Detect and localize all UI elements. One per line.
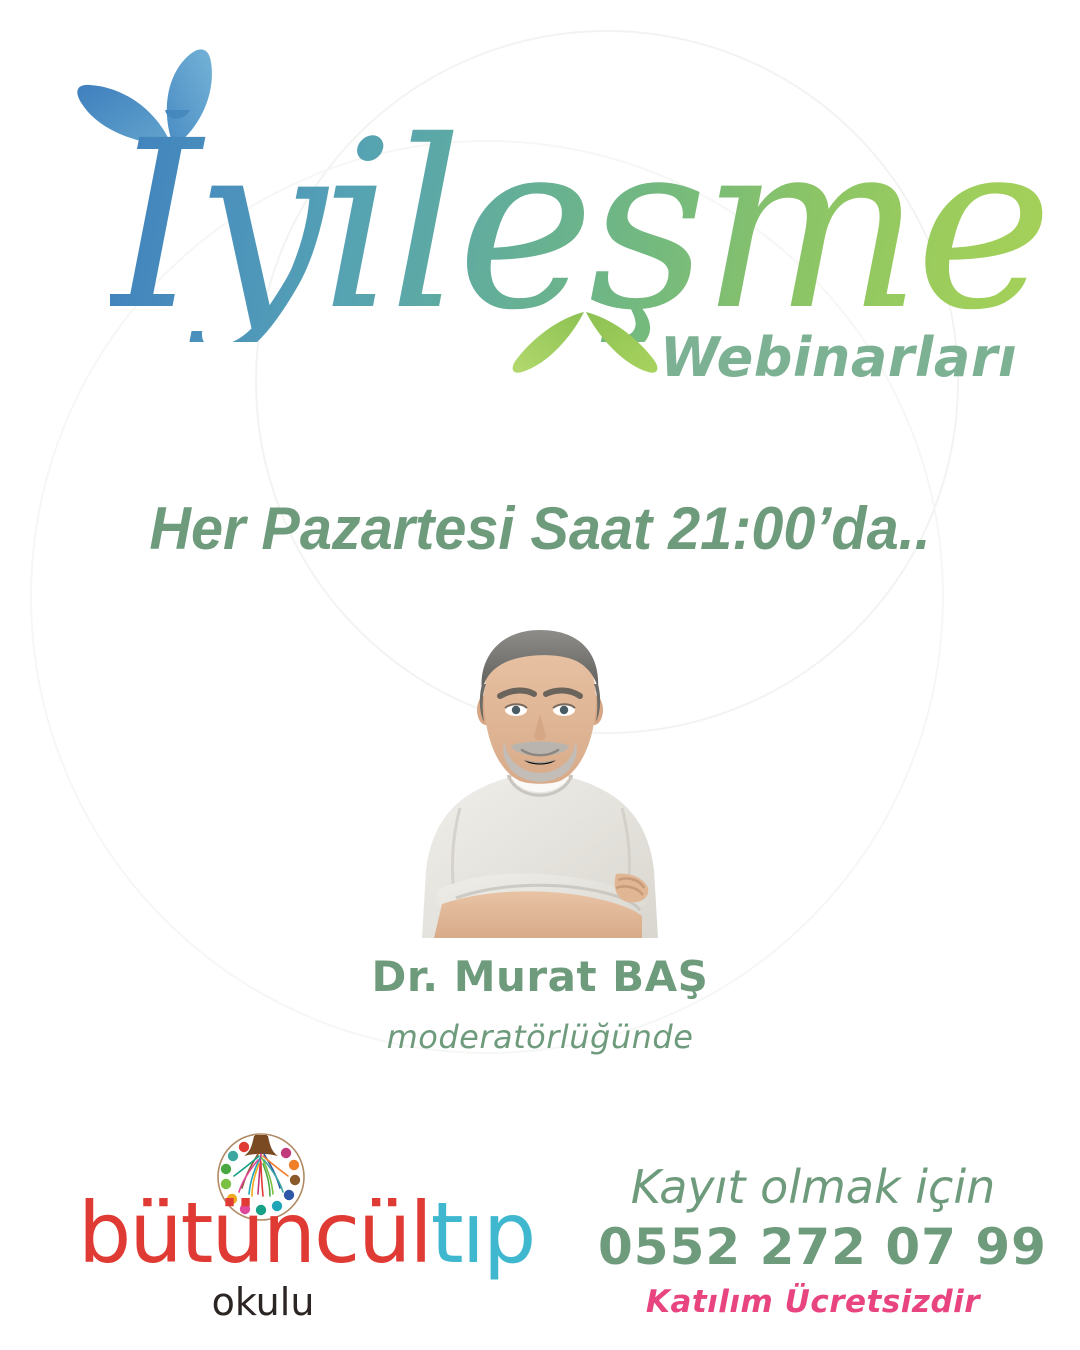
contact-lead-text: Kayıt olmak için	[598, 1158, 1028, 1216]
school-logo[interactable]: bütüncültıp okulu	[78, 1132, 448, 1322]
free-participation-note: Katılım Ücretsizdir	[598, 1278, 1028, 1326]
contact-phone-number[interactable]: 0552 272 07 99	[598, 1216, 1028, 1278]
school-word-part-b: tıp	[431, 1184, 535, 1282]
contact-block: Kayıt olmak için 0552 272 07 99 Katılım …	[598, 1158, 1028, 1326]
school-word-sub: okulu	[78, 1280, 448, 1324]
school-word-part-a: bütüncül	[78, 1184, 431, 1282]
speaker-role: moderatörlüğünde	[0, 1018, 1080, 1056]
page-title: Her Pazartesi Saat 21:00’da..	[22, 494, 1059, 563]
brand-logo: İyileşme Webinarları	[62, 48, 1022, 408]
school-wordmark: bütüncültıp	[78, 1190, 448, 1276]
speaker-portrait	[378, 622, 702, 938]
speaker-name: Dr. Murat BAŞ	[0, 952, 1080, 1001]
brand-subtitle: Webinarları	[660, 326, 1017, 389]
poster-canvas: İyileşme Webinarları Her	[0, 0, 1080, 1350]
leaf-pair-bottom-icon	[510, 306, 660, 401]
